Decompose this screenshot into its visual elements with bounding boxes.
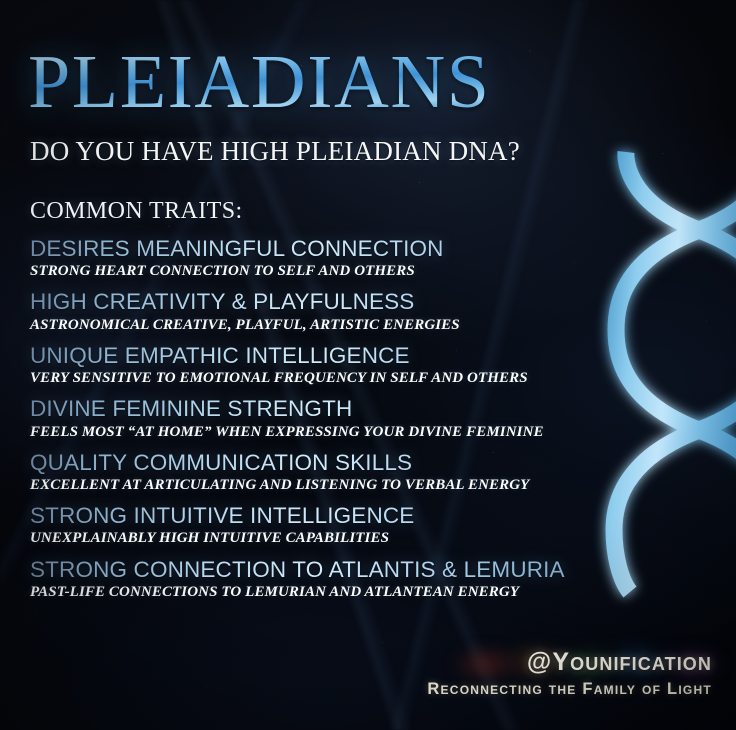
background-vignette: [0, 0, 736, 730]
pleiadians-infographic-poster: PLEIADIANS DO YOU HAVE HIGH PLEIADIAN DN…: [0, 0, 736, 730]
